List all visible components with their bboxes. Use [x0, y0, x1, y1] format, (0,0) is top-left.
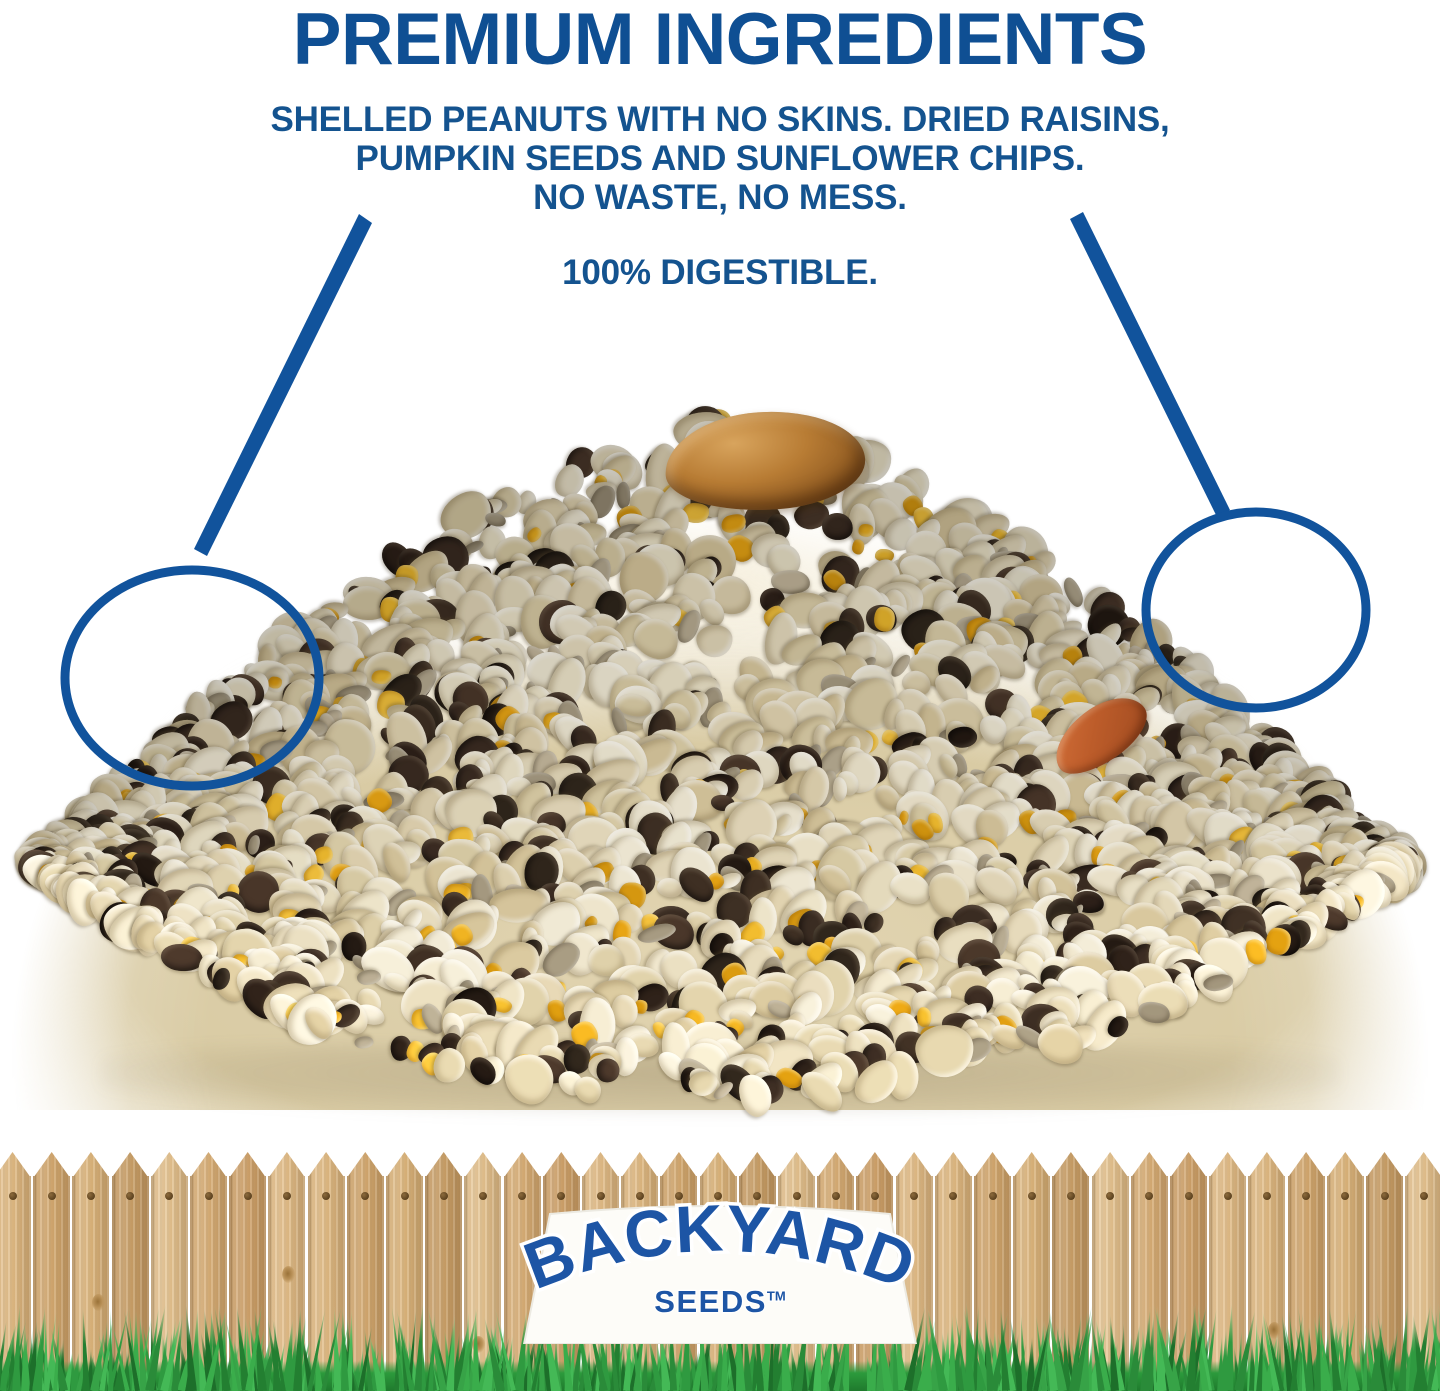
picket-tip: [229, 1152, 266, 1178]
picket-tip: [700, 1152, 737, 1178]
subcopy-line-3: NO WASTE, NO MESS.: [533, 178, 907, 217]
subcopy-line-1: SHELLED PEANUTS WITH NO SKINS. DRIED RAI…: [270, 100, 1169, 139]
picket-nail: [1185, 1192, 1193, 1200]
seed-mix-pile: [10, 390, 1430, 1110]
logo-lettering: BACKYARD: [512, 1196, 928, 1344]
picket-nail: [479, 1192, 487, 1200]
picket-tip: [1131, 1152, 1168, 1178]
picket-tip: [896, 1152, 933, 1178]
seed-particle: [852, 539, 864, 554]
picket-tip: [425, 1152, 462, 1178]
picket-nail: [244, 1192, 252, 1200]
picket-tip: [268, 1152, 305, 1178]
picket-tip: [464, 1152, 501, 1178]
marketing-copy-block: PREMIUM INGREDIENTS SHELLED PEANUTS WITH…: [0, 0, 1440, 293]
ingredient-description: SHELLED PEANUTS WITH NO SKINS. DRIED RAI…: [0, 78, 1440, 217]
picket-tip: [190, 1152, 227, 1178]
picket-tip: [817, 1152, 854, 1178]
picket-tip: [856, 1152, 893, 1178]
page-title: PREMIUM INGREDIENTS: [0, 0, 1440, 78]
picket-nail: [205, 1192, 213, 1200]
picket-nail: [1067, 1192, 1075, 1200]
picket-tip: [308, 1152, 345, 1178]
product-marketing-image: PREMIUM INGREDIENTS SHELLED PEANUTS WITH…: [0, 0, 1440, 1391]
picket-tip: [660, 1152, 697, 1178]
picket-tip: [778, 1152, 815, 1178]
trademark-symbol: TM: [767, 1289, 786, 1304]
product-photo: [0, 360, 1440, 1130]
picket-nail: [440, 1192, 448, 1200]
picket-tip: [935, 1152, 972, 1178]
picket-tip: [1170, 1152, 1207, 1178]
picket-tip: [974, 1152, 1011, 1178]
picket-tip: [582, 1152, 619, 1178]
picket-nail: [87, 1192, 95, 1200]
picket-tip: [72, 1152, 109, 1178]
digestible-tagline: 100% DIGESTIBLE.: [0, 217, 1440, 293]
picket-tip: [1248, 1152, 1285, 1178]
picket-tip: [1327, 1152, 1364, 1178]
picket-nail: [1381, 1192, 1389, 1200]
picket-tip: [543, 1152, 580, 1178]
brand-sub-text: SEEDS: [654, 1284, 767, 1319]
brand-logo: BACKYARD SEEDSTM: [512, 1196, 928, 1344]
picket-nail: [1263, 1192, 1271, 1200]
picket-nail: [9, 1192, 17, 1200]
picket-tip: [1092, 1152, 1129, 1178]
picket-tip: [1052, 1152, 1089, 1178]
picket-tip: [1405, 1152, 1440, 1178]
picket-tip: [1288, 1152, 1325, 1178]
subcopy-line-2: PUMPKIN SEEDS AND SUNFLOWER CHIPS.: [356, 139, 1085, 178]
picket-nail: [401, 1192, 409, 1200]
wood-knot: [282, 1266, 295, 1283]
picket-tip: [739, 1152, 776, 1178]
picket-nail: [1420, 1192, 1428, 1200]
picket-tip: [504, 1152, 541, 1178]
picket-tip: [1366, 1152, 1403, 1178]
picket-nail: [1224, 1192, 1232, 1200]
picket-nail: [283, 1192, 291, 1200]
picket-tip: [1209, 1152, 1246, 1178]
picket-tip: [151, 1152, 188, 1178]
picket-nail: [1028, 1192, 1036, 1200]
picket-nail: [48, 1192, 56, 1200]
picket-tip: [1013, 1152, 1050, 1178]
seed-particle: [1266, 928, 1291, 955]
brand-sub-label: SEEDSTM: [512, 1284, 928, 1320]
picket-tip: [621, 1152, 658, 1178]
picket-tip: [0, 1152, 31, 1178]
picket-tip: [33, 1152, 70, 1178]
picket-tip: [347, 1152, 384, 1178]
picket-tip: [386, 1152, 423, 1178]
picket-nail: [989, 1192, 997, 1200]
grass-blade: [948, 1314, 956, 1391]
picket-tip: [112, 1152, 149, 1178]
